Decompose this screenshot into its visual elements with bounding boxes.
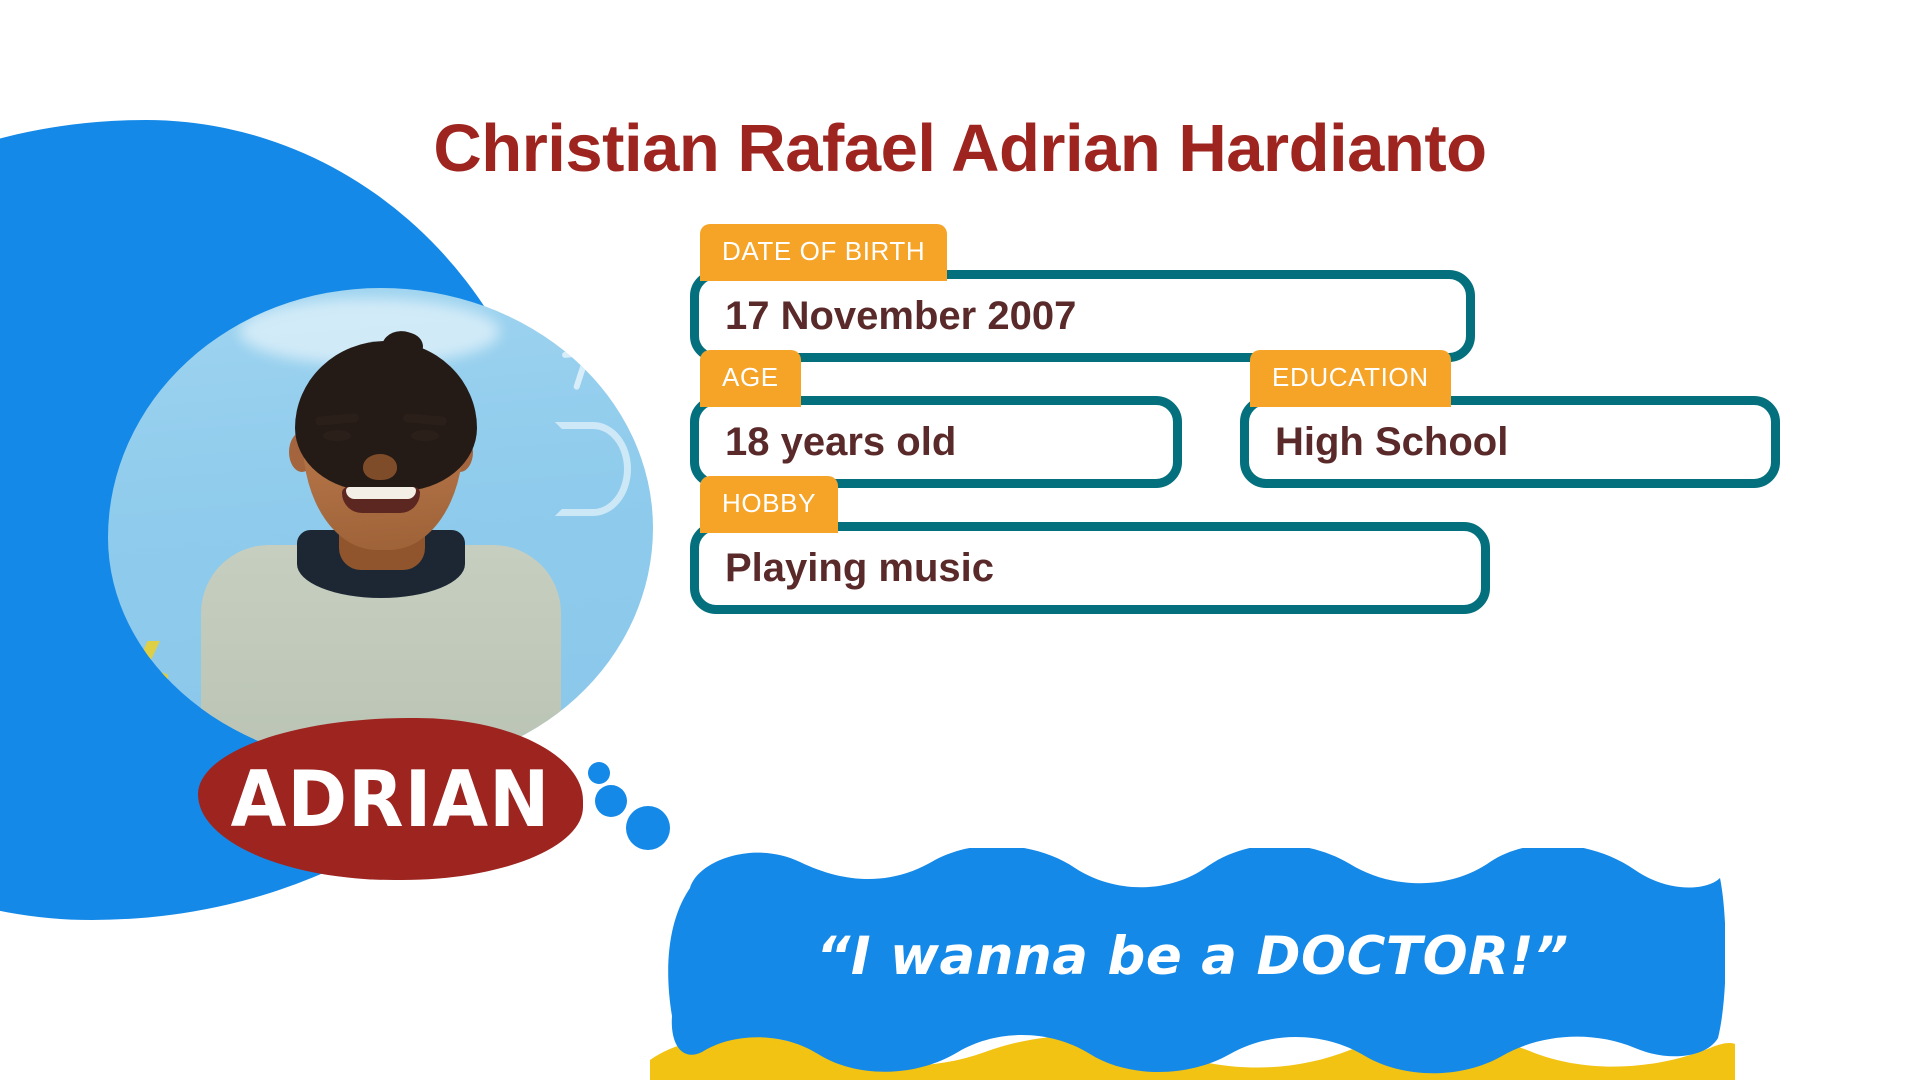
person-nose xyxy=(363,454,397,480)
photo-circle-frame xyxy=(108,288,653,768)
person-eye-right xyxy=(411,430,439,441)
info-value-education: High School xyxy=(1275,422,1508,462)
info-card-date-of-birth: DATE OF BIRTH 17 November 2007 xyxy=(690,270,1475,362)
person-eye-left xyxy=(323,430,351,441)
info-row-2: AGE 18 years old EDUCATION High School xyxy=(690,396,1810,522)
person-figure xyxy=(108,288,653,768)
page-title: Christian Rafael Adrian Hardianto xyxy=(0,110,1920,187)
info-label-education: EDUCATION xyxy=(1250,350,1451,407)
info-row-3: HOBBY Playing music xyxy=(690,522,1810,648)
info-label-age: AGE xyxy=(700,350,801,407)
info-card-hobby: HOBBY Playing music xyxy=(690,522,1490,614)
info-box-hobby: Playing music xyxy=(690,522,1490,614)
info-card-age: AGE 18 years old xyxy=(690,396,1182,488)
info-label-date-of-birth: DATE OF BIRTH xyxy=(700,224,947,281)
speech-dot-medium xyxy=(595,785,627,817)
profile-photo xyxy=(108,288,653,768)
speech-bubble: “I wanna be a DOCTOR!” xyxy=(660,848,1725,1080)
info-box-date-of-birth: 17 November 2007 xyxy=(690,270,1475,362)
speech-bubble-quote: “I wanna be a DOCTOR!” xyxy=(660,926,1725,987)
info-card-area: DATE OF BIRTH 17 November 2007 AGE 18 ye… xyxy=(690,270,1810,648)
person-mouth xyxy=(342,487,420,513)
info-label-hobby: HOBBY xyxy=(700,476,838,533)
info-value-age: 18 years old xyxy=(725,422,956,462)
speech-dot-small xyxy=(588,762,610,784)
info-value-date-of-birth: 17 November 2007 xyxy=(725,296,1076,336)
profile-slide: Christian Rafael Adrian Hardianto DATE O… xyxy=(0,0,1920,1080)
info-value-hobby: Playing music xyxy=(725,548,994,588)
person-teeth xyxy=(346,487,416,499)
nickname-badge-label: ADRIAN xyxy=(231,754,551,845)
speech-dot-large xyxy=(626,806,670,850)
info-box-age: 18 years old xyxy=(690,396,1182,488)
info-card-education: EDUCATION High School xyxy=(1240,396,1780,488)
info-box-education: High School xyxy=(1240,396,1780,488)
